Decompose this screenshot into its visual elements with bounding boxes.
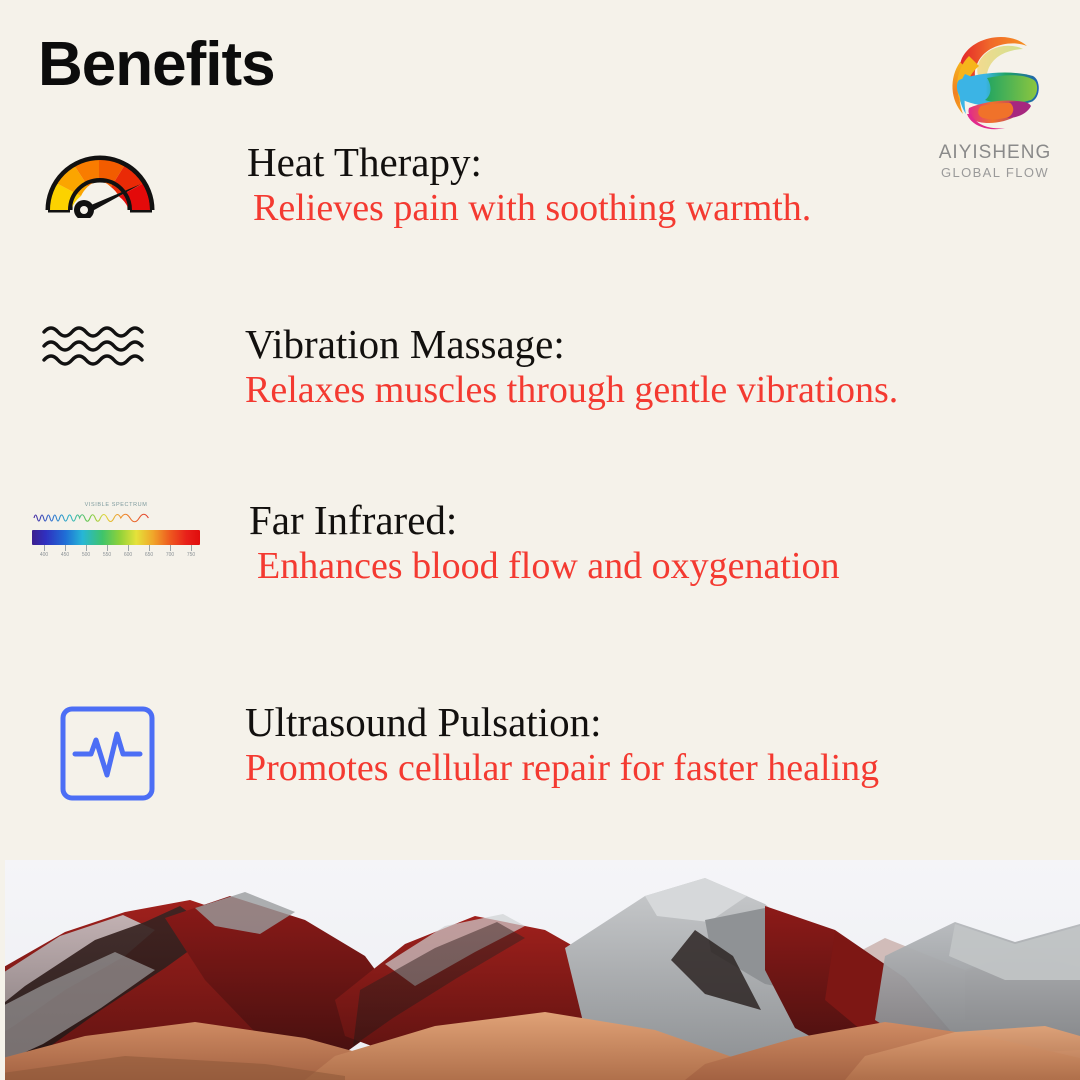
globe-ribbon-logo-icon (935, 22, 1055, 142)
spectrum-tick-label: 400 (40, 552, 48, 558)
benefit-description: Relieves pain with soothing warmth. (253, 188, 811, 230)
wavelength-wave-icon (32, 509, 200, 525)
spectrum-tick-label: 750 (187, 552, 195, 558)
logo-brand-name: AIYISHENG (930, 143, 1060, 164)
spectrum-tick-label: 600 (124, 552, 132, 558)
benefit-description: Relaxes muscles through gentle vibration… (245, 370, 898, 412)
page-title: Benefits (38, 34, 275, 96)
benefit-title: Ultrasound Pulsation: (245, 700, 879, 744)
spectrum-tick-label: 550 (103, 552, 111, 558)
spectrum-tick-scale: 400 450 500 550 600 650 700 750 (32, 545, 200, 563)
spectrum-label: VISIBLE SPECTRUM (32, 502, 200, 508)
spectrum-tick-label: 450 (61, 552, 69, 558)
spectrum-gradient-bar (32, 530, 200, 545)
benefit-text-block: Heat Therapy: Relieves pain with soothin… (247, 140, 811, 230)
spectrum-tick-label: 700 (166, 552, 174, 558)
benefit-title: Far Infrared: (249, 498, 840, 542)
vibration-waves-icon (40, 322, 210, 432)
mountain-landscape-photo (5, 860, 1080, 1080)
heat-gauge-icon (40, 140, 210, 250)
benefit-title: Vibration Massage: (245, 322, 898, 366)
benefit-text-block: Vibration Massage: Relaxes muscles throu… (245, 322, 898, 412)
visible-spectrum-icon: VISIBLE SPECTRUM 400 450 (32, 502, 202, 612)
benefit-title: Heat Therapy: (247, 140, 811, 184)
benefit-description: Promotes cellular repair for faster heal… (245, 748, 879, 790)
benefit-description: Enhances blood flow and oxygenation (257, 546, 840, 588)
spectrum-tick-label: 650 (145, 552, 153, 558)
benefits-slide: Benefits (0, 0, 1080, 1080)
ultrasound-pulse-icon (60, 706, 230, 816)
logo-tagline: GLOBAL FLOW (930, 166, 1060, 180)
benefit-text-block: Far Infrared: Enhances blood flow and ox… (249, 498, 840, 588)
brand-logo: AIYISHENG GLOBAL FLOW (930, 22, 1060, 180)
spectrum-tick-label: 500 (82, 552, 90, 558)
benefit-text-block: Ultrasound Pulsation: Promotes cellular … (245, 700, 879, 790)
